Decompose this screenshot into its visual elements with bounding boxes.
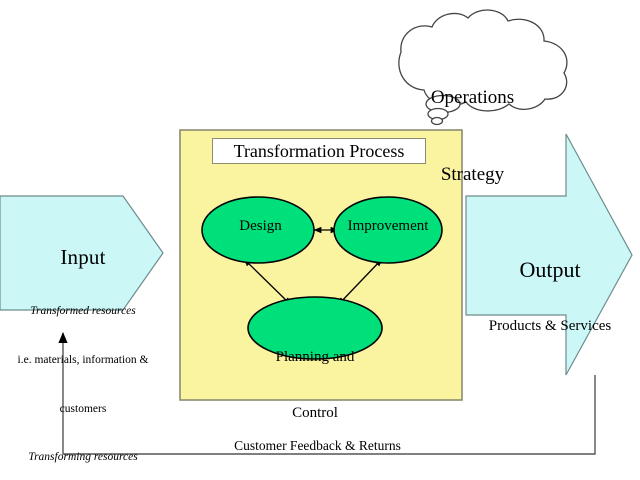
output-label-group: Output Products & Services (470, 222, 630, 371)
node-improvement-label: Improvement (327, 218, 449, 235)
input-line-3: customers (0, 403, 166, 416)
node-planning-line-1: Planning and (250, 348, 380, 367)
output-subtitle: Products & Services (470, 318, 630, 335)
input-line-4: Transforming resources (0, 451, 166, 464)
output-title: Output (470, 258, 630, 283)
diagram-canvas: Operations Strategy Transformation Proce… (0, 0, 640, 480)
input-line-2: i.e. materials, information & (0, 354, 166, 367)
input-line-1: Transformed resources (0, 305, 166, 318)
transformation-process-label: Transformation Process (212, 138, 426, 164)
node-planning-line-2: Control (250, 404, 380, 423)
cloud-line-1: Operations (390, 85, 555, 111)
cloud-line-2: Strategy (390, 162, 555, 188)
input-title: Input (0, 246, 166, 270)
node-design-label: Design (203, 218, 318, 235)
operations-strategy-label: Operations Strategy (390, 34, 555, 239)
customer-feedback-label: Customer Feedback & Returns (210, 438, 425, 453)
input-label-group: Input Transformed resources i.e. materia… (0, 210, 166, 480)
